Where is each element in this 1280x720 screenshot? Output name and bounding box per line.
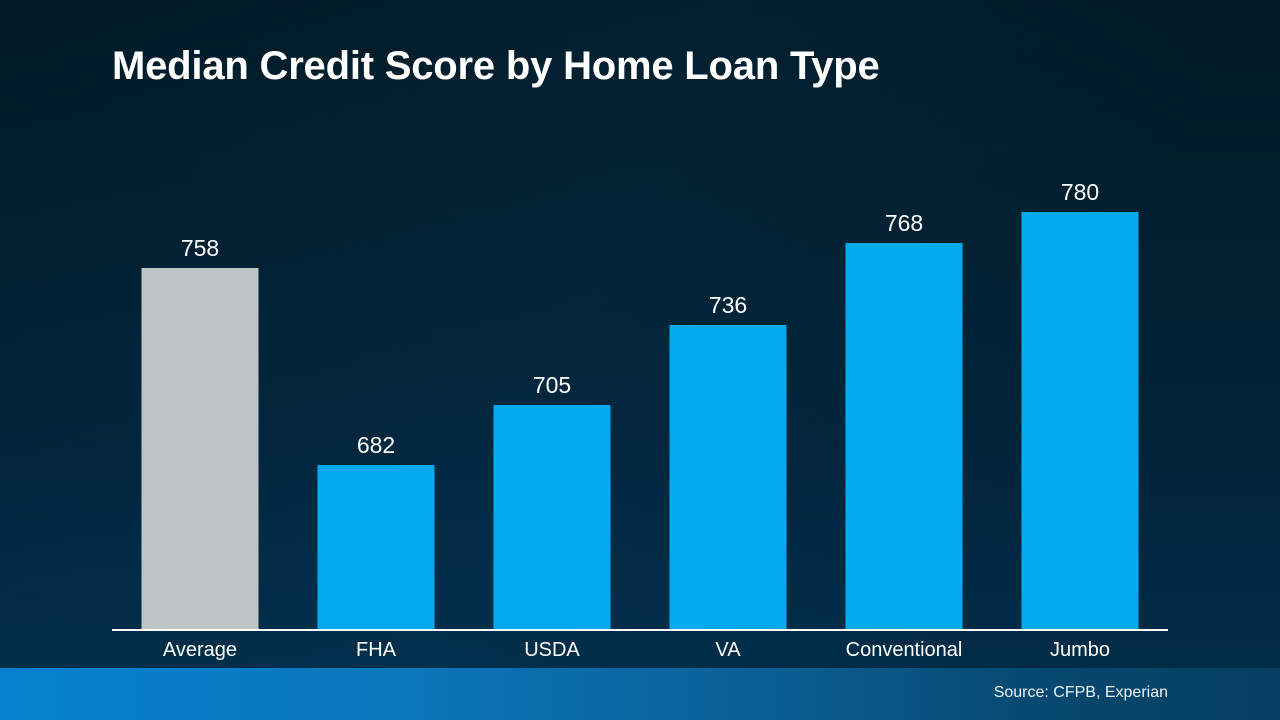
bar-slot-jumbo: 780 <box>992 160 1168 630</box>
bar-chart-plot-area: 758 682 705 736 768 780 <box>112 160 1168 630</box>
x-axis-category-labels: Average FHA USDA VA Conventional Jumbo <box>112 637 1168 667</box>
bar-usda[interactable] <box>494 405 611 630</box>
bar-slot-average: 758 <box>112 160 288 630</box>
page-title: Median Credit Score by Home Loan Type <box>112 44 880 89</box>
x-label-jumbo: Jumbo <box>992 637 1168 667</box>
bar-average[interactable] <box>142 268 259 630</box>
x-label-average: Average <box>112 637 288 667</box>
x-label-usda: USDA <box>464 637 640 667</box>
x-axis-line <box>112 629 1168 631</box>
x-label-conventional: Conventional <box>816 637 992 667</box>
x-label-fha: FHA <box>288 637 464 667</box>
bar-value-conventional: 768 <box>885 212 923 235</box>
bar-conventional[interactable] <box>846 243 963 630</box>
bar-fha[interactable] <box>318 465 435 630</box>
bar-value-jumbo: 780 <box>1061 181 1099 204</box>
bar-value-va: 736 <box>709 294 747 317</box>
bar-slot-fha: 682 <box>288 160 464 630</box>
bar-slot-usda: 705 <box>464 160 640 630</box>
x-label-va: VA <box>640 637 816 667</box>
bar-slot-va: 736 <box>640 160 816 630</box>
bar-value-usda: 705 <box>533 374 571 397</box>
bar-value-fha: 682 <box>357 434 395 457</box>
bar-va[interactable] <box>670 325 787 630</box>
bar-value-average: 758 <box>181 237 219 260</box>
bar-jumbo[interactable] <box>1022 212 1139 630</box>
footer-bar: Source: CFPB, Experian <box>0 668 1280 720</box>
source-note: Source: CFPB, Experian <box>994 684 1168 702</box>
slide-canvas: Median Credit Score by Home Loan Type 75… <box>0 0 1280 720</box>
bar-slot-conventional: 768 <box>816 160 992 630</box>
